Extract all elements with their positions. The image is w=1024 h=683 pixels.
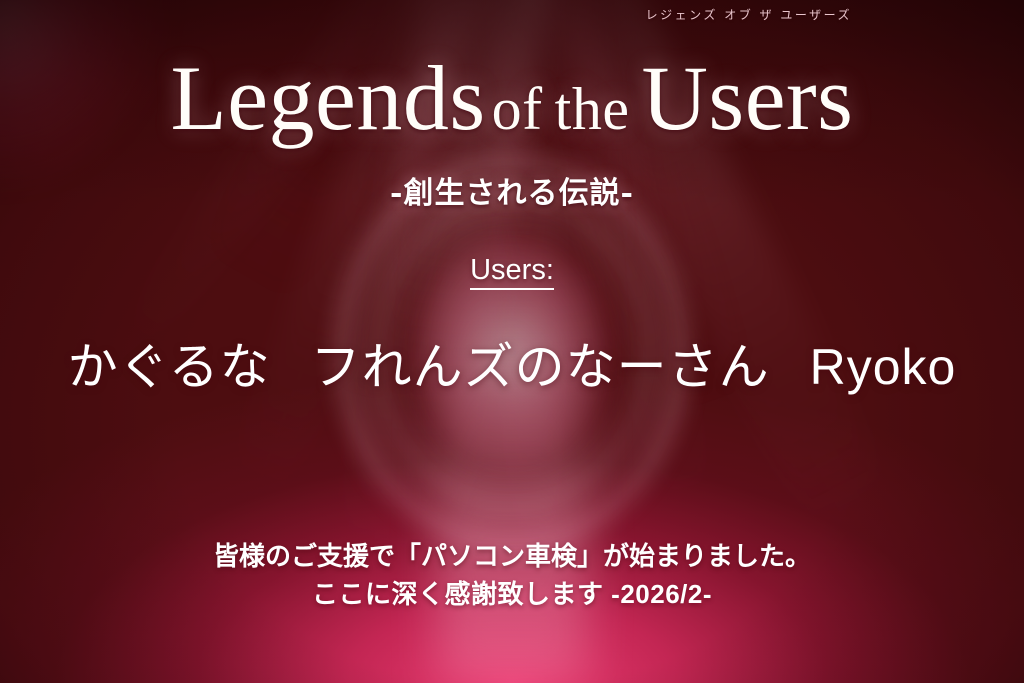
title-furigana: レジェンズ オブ ザ ユーザーズ [646, 9, 852, 21]
footer-message: 皆様のご支援で「パソコン車検」が始まりました。 ここに深く感謝致します -202… [0, 538, 1024, 613]
title-word-the: the [549, 76, 636, 142]
user-name-3: Ryoko [810, 339, 957, 395]
title-word-legends: Legends [171, 47, 486, 149]
poster-canvas: Legendsoftheレジェンズ オブ ザ ユーザーズUsers -創生される… [0, 0, 1024, 683]
footer-line-1: 皆様のご支援で「パソコン車検」が始まりました。 [0, 538, 1024, 576]
title-word-of: of [486, 76, 549, 142]
title-word-users-text: Users [641, 47, 853, 149]
title-word-users: レジェンズ オブ ザ ユーザーズUsers [635, 47, 853, 149]
users-list: かぐるなフれんズのなーさんRyoko [0, 327, 1024, 399]
page-subtitle: -創生される伝説- [0, 168, 1024, 212]
poster-content: Legendsoftheレジェンズ オブ ザ ユーザーズUsers -創生される… [0, 0, 1024, 683]
users-label-text: Users: [470, 254, 554, 290]
footer-line-2: ここに深く感謝致します -2026/2- [0, 576, 1024, 614]
user-name-2: フれんズのなーさん [311, 339, 770, 395]
page-title: Legendsoftheレジェンズ オブ ザ ユーザーズUsers [171, 52, 854, 144]
user-name-1: かぐるな [68, 339, 271, 395]
users-label: Users: [0, 254, 1024, 287]
title-block: Legendsoftheレジェンズ オブ ザ ユーザーズUsers [0, 52, 1024, 144]
